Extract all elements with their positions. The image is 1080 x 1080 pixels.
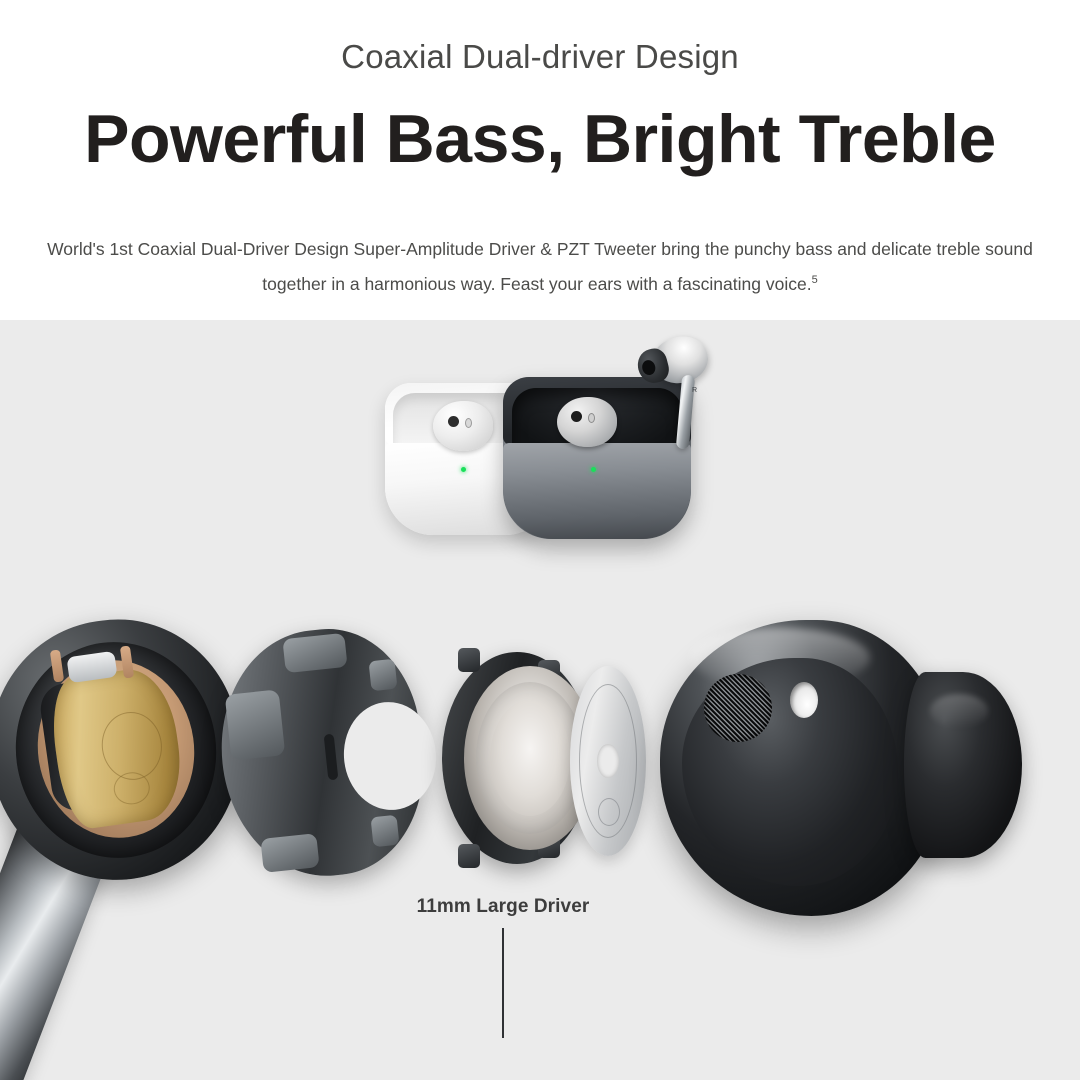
part-rear-cavity-cover — [222, 630, 432, 880]
part-outer-shell — [0, 620, 240, 880]
grey-bud-nozzle — [588, 413, 595, 423]
pzt-center-hole — [597, 744, 619, 778]
cover-tab-3 — [260, 833, 319, 873]
footnote-marker: 5 — [812, 274, 818, 286]
cover-tab-4 — [369, 659, 398, 692]
standing-earbud: R — [630, 335, 708, 465]
page-title: Powerful Bass, Bright Treble — [0, 100, 1080, 178]
standing-bud-stem — [676, 375, 695, 450]
driver-cone-inner — [490, 700, 570, 816]
white-bud-sensor-dot — [448, 416, 459, 427]
part-pzt-tweeter — [570, 666, 660, 856]
right-channel-marking: R — [692, 387, 697, 394]
earbud-sensor-dot — [790, 682, 818, 718]
description-paragraph: World's 1st Coaxial Dual-Driver Design S… — [40, 232, 1040, 302]
grey-bud-sensor-dot — [571, 411, 582, 422]
cover-tab-5 — [371, 815, 400, 848]
driver-clip-2 — [458, 844, 480, 868]
white-bud-nozzle — [465, 418, 472, 428]
earbud-mesh-grille — [704, 674, 772, 742]
product-stage: R — [0, 320, 1080, 1080]
eyebrow-text: Coaxial Dual-driver Design — [0, 38, 1080, 76]
driver-clip-1 — [458, 648, 480, 672]
white-earbud-in-case — [433, 401, 493, 451]
leader-line-driver — [502, 928, 504, 1038]
description-text: World's 1st Coaxial Dual-Driver Design S… — [47, 239, 1033, 294]
exploded-view-diagram: 11mm Large Driver Independent Rear Cavit… — [0, 600, 1080, 1080]
grey-case-led-indicator — [591, 467, 596, 472]
pzt-small-cutout — [598, 798, 620, 826]
cover-tab-2 — [282, 633, 347, 673]
part-assembled-earbud — [660, 620, 1060, 940]
hero-section: Coaxial Dual-driver Design Powerful Bass… — [0, 0, 1080, 320]
white-case-led-indicator — [461, 467, 466, 472]
charging-cases-group: R — [375, 335, 715, 565]
cover-tab-1 — [225, 689, 286, 760]
grey-earbud-in-case — [557, 397, 617, 447]
earbud-silicone-eartip — [904, 672, 1022, 858]
product-feature-page: Coaxial Dual-driver Design Powerful Bass… — [0, 0, 1080, 1080]
callout-label-driver: 11mm Large Driver — [0, 893, 1006, 921]
